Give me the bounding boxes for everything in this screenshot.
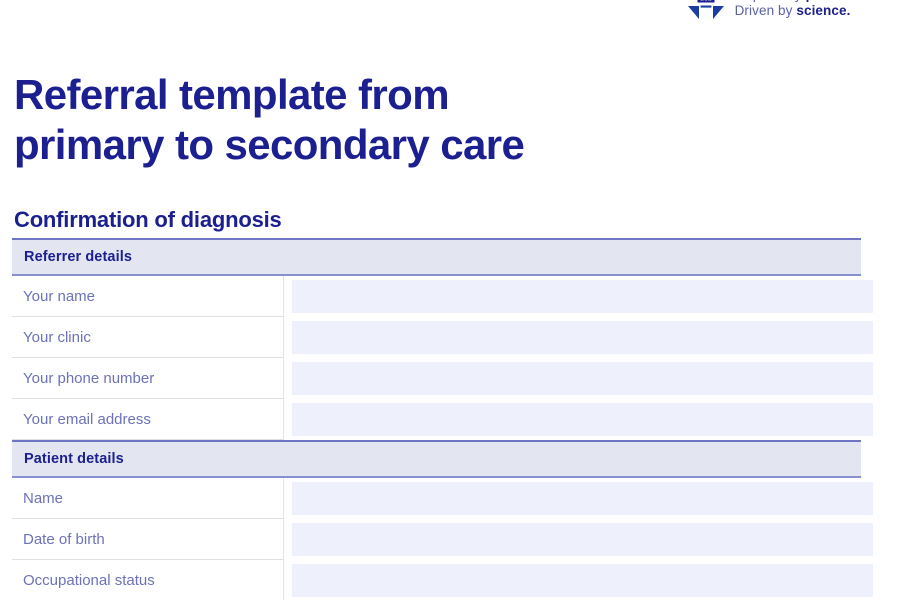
field-input-cell	[284, 519, 873, 560]
tagline-2-light: Driven by	[735, 3, 797, 18]
form-row: Your phone number	[12, 358, 861, 399]
brand-block: ucb Inspired by patients. Driven by scie…	[686, 0, 862, 28]
svg-text:ucb: ucb	[699, 0, 711, 3]
field-input[interactable]	[292, 403, 873, 436]
section-subtitle: Confirmation of diagnosis	[14, 207, 282, 233]
form-row: Your name	[12, 276, 861, 317]
ucb-logo-icon: ucb	[686, 0, 726, 28]
form-row: Date of birth	[12, 519, 861, 560]
field-input[interactable]	[292, 482, 873, 515]
section-header-label: Patient details	[24, 451, 124, 467]
form-row: Occupational status	[12, 560, 861, 600]
field-input-cell	[284, 399, 873, 440]
tagline-2-bold: science.	[796, 3, 850, 18]
form-row: Your clinic	[12, 317, 861, 358]
field-label: Your email address	[12, 399, 284, 440]
field-input[interactable]	[292, 321, 873, 354]
referral-template-page: ucb Inspired by patients. Driven by scie…	[0, 0, 900, 600]
page-title: Referral template from primary to second…	[14, 70, 694, 170]
field-label: Your clinic	[12, 317, 284, 358]
field-label: Date of birth	[12, 519, 284, 560]
section-header: Referrer details	[12, 238, 861, 276]
field-input-cell	[284, 560, 873, 600]
form-row: Your email address	[12, 399, 861, 440]
field-label: Your phone number	[12, 358, 284, 399]
field-input[interactable]	[292, 564, 873, 597]
brand-tagline: Inspired by patients. Driven by science.	[735, 0, 862, 18]
field-input-cell	[284, 478, 873, 519]
tagline-line-2: Driven by science.	[735, 3, 862, 19]
section-header: Patient details	[12, 440, 861, 478]
field-label: Name	[12, 478, 284, 519]
section-header-label: Referrer details	[24, 249, 132, 265]
field-input-cell	[284, 358, 873, 399]
field-input[interactable]	[292, 523, 873, 556]
page-title-line-1: Referral template from	[14, 70, 694, 120]
field-input-cell	[284, 317, 873, 358]
field-input-cell	[284, 276, 873, 317]
form-row: Name	[12, 478, 861, 519]
page-title-line-2: primary to secondary care	[14, 120, 694, 170]
field-label: Your name	[12, 276, 284, 317]
referral-form-table: Referrer detailsYour nameYour clinicYour…	[12, 238, 861, 600]
field-label: Occupational status	[12, 560, 284, 600]
field-input[interactable]	[292, 362, 873, 395]
field-input[interactable]	[292, 280, 873, 313]
